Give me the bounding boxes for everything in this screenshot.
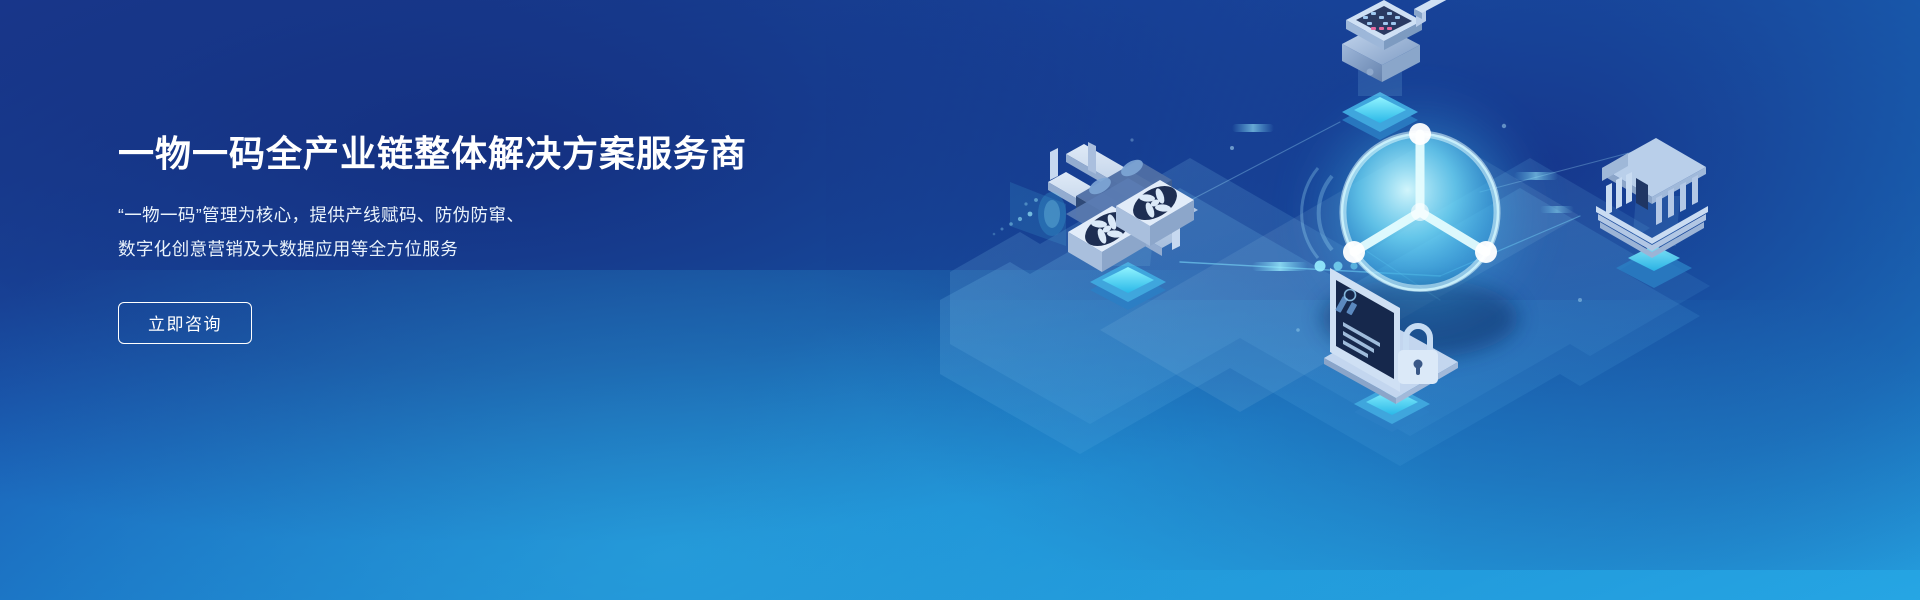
hero-illustration [880,0,1920,600]
hero-subtitle-line-1: “一物一码”管理为核心，提供产线赋码、防伪防窜、 [118,198,818,232]
hero-banner: 一物一码全产业链整体解决方案服务商 “一物一码”管理为核心，提供产线赋码、防伪防… [0,0,1920,600]
page-title: 一物一码全产业链整体解决方案服务商 [118,132,818,176]
consult-now-button[interactable]: 立即咨询 [118,302,252,344]
hero-subtitle-line-2: 数字化创意营销及大数据应用等全方位服务 [118,232,818,266]
hero-subtitle: “一物一码”管理为核心，提供产线赋码、防伪防窜、 数字化创意营销及大数据应用等全… [118,198,818,266]
hero-copy: 一物一码全产业链整体解决方案服务商 “一物一码”管理为核心，提供产线赋码、防伪防… [118,132,818,344]
